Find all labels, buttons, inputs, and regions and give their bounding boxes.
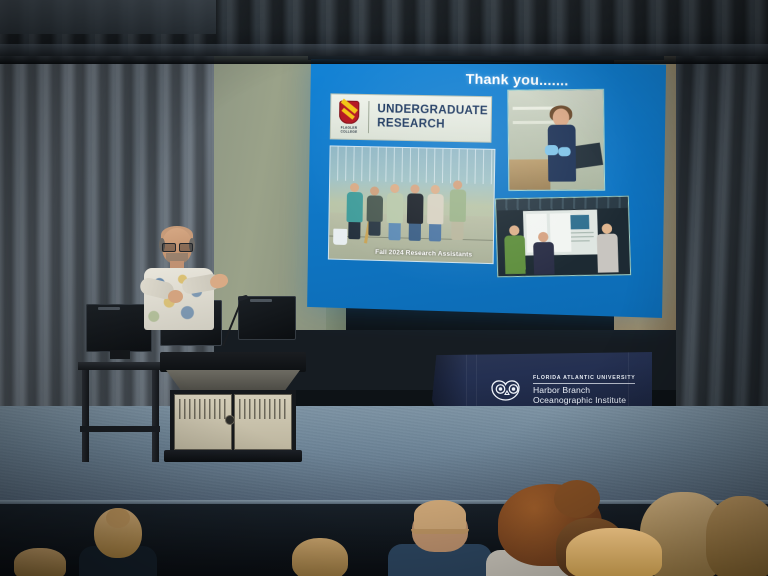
poster-person [595, 223, 619, 272]
owl-icon [488, 378, 526, 404]
podium [160, 352, 306, 464]
audience-front-rows [0, 486, 768, 576]
group-person [448, 180, 466, 240]
poster-person [503, 225, 527, 274]
blue-glove [558, 147, 570, 156]
cabinet-lock-icon[interactable] [226, 416, 234, 424]
audience-head-blonde-bun [86, 510, 150, 576]
vent-slots-icon [179, 399, 227, 419]
slide-photo-poster-session [495, 196, 631, 278]
slide-photo-group: Fall 2024 Research Assistants [328, 145, 496, 264]
group-person [385, 184, 403, 241]
group-person [365, 186, 383, 236]
stage-curtain-right [676, 20, 768, 440]
undergraduate-research-heading: UNDERGRADUATE RESEARCH [377, 104, 488, 133]
podium-base [164, 450, 302, 462]
slide-photo-lab [507, 89, 605, 191]
audience-head-tan-cap [398, 498, 482, 576]
logo-divider [368, 101, 370, 133]
poster-person [532, 232, 556, 275]
podium-body [170, 390, 296, 452]
av-cart [78, 362, 164, 462]
podium-cabinet-door-left[interactable] [174, 394, 232, 450]
projection-screen: Thank you....... FLAGLER COLLEGE UNDERGR… [307, 59, 666, 318]
blue-glove [545, 145, 558, 155]
auditorium-scene: Thank you....... FLAGLER COLLEGE UNDERGR… [0, 0, 768, 576]
slide-title-text: Thank you....... [405, 70, 569, 89]
audience-head-left-small [14, 546, 66, 576]
audience-head-mid-blonde [566, 526, 662, 576]
audience-head-blonde-ponytail [706, 494, 768, 576]
group-person [406, 184, 424, 241]
group-person [426, 185, 444, 242]
slide-logo-bar: FLAGLER COLLEGE UNDERGRADUATE RESEARCH [330, 93, 492, 142]
stage-valance-lobe [0, 0, 216, 34]
marina-masts [330, 146, 494, 184]
crest-name-line2: COLLEGE [336, 130, 362, 135]
slide-title: Thank you....... [311, 68, 666, 90]
vent-slots-icon [239, 399, 287, 419]
ceiling-grid [496, 197, 628, 211]
monitor-stand [110, 350, 130, 359]
heading-line2: RESEARCH [377, 117, 488, 133]
eyeglasses-icon [162, 243, 193, 250]
stage-valance-hem [0, 44, 768, 64]
flagler-college-crest-icon: FLAGLER COLLEGE [336, 99, 363, 134]
podium-cabinet-door-right[interactable] [234, 394, 292, 450]
speaker-presenter [138, 228, 230, 358]
audience-head-center-blonde [292, 536, 348, 576]
fau-institute-line2: Oceanographic Institute [533, 396, 635, 406]
speaker-left-hand [168, 290, 183, 303]
podium-front-panel [166, 370, 300, 392]
lab-researcher [543, 108, 581, 187]
podium-monitor-right [238, 296, 296, 340]
fau-university-name: FLORIDA ATLANTIC UNIVERSITY [533, 376, 635, 384]
group-person [345, 183, 363, 240]
